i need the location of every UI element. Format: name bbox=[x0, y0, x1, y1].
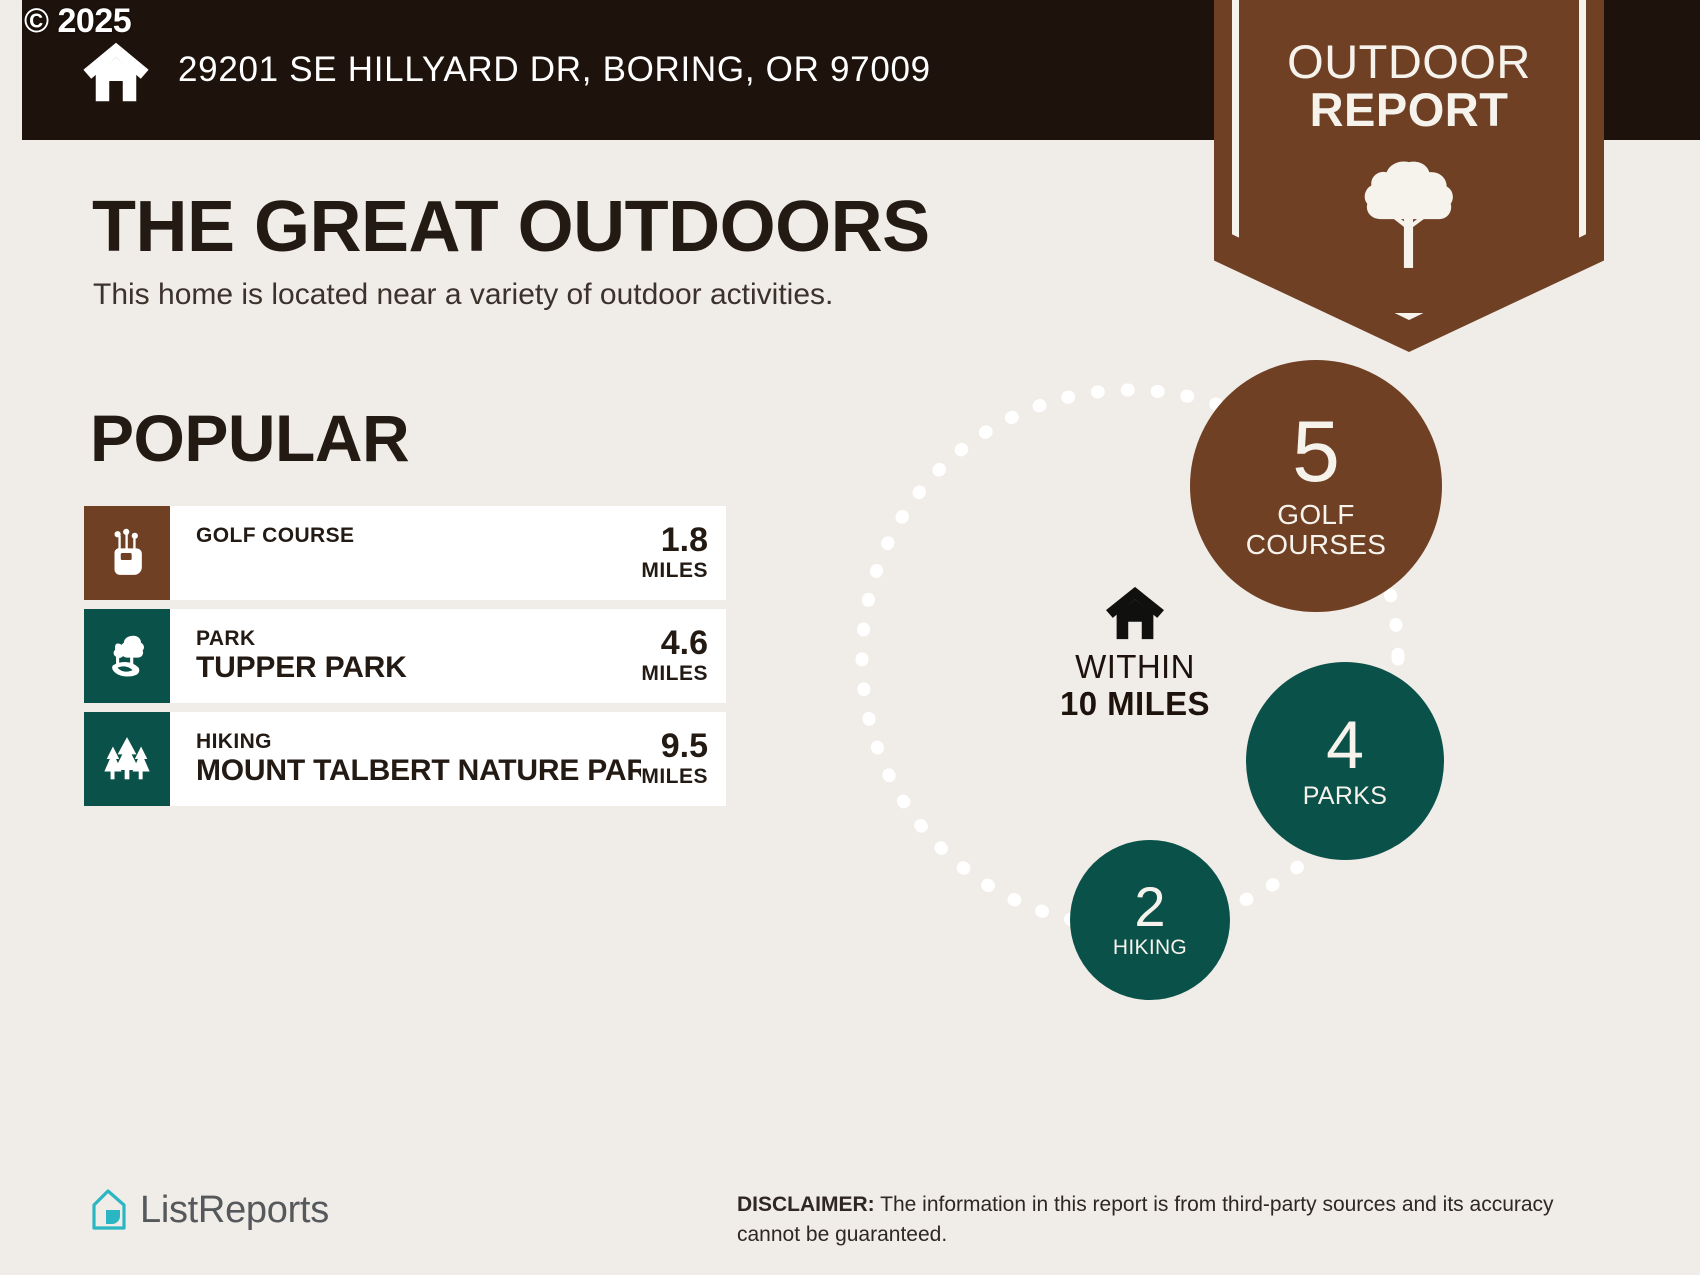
home-icon bbox=[1104, 585, 1166, 643]
outdoor-report-page: 29201 SE HILLYARD DR, BORING, OR 97009 ©… bbox=[0, 0, 1700, 1275]
poi-category: PARK bbox=[196, 627, 641, 651]
pine-trees-icon-box bbox=[84, 712, 170, 806]
golf-bag-icon-box bbox=[84, 506, 170, 600]
park-trees-icon bbox=[102, 631, 152, 681]
poi-text: GOLF COURSE bbox=[170, 506, 641, 600]
poi-text: HIKING MOUNT TALBERT NATURE PARK bbox=[170, 712, 641, 806]
poi-category: HIKING bbox=[196, 730, 641, 754]
disclaimer: DISCLAIMER: The information in this repo… bbox=[737, 1190, 1567, 1250]
stat-circle-parks[interactable]: 4 PARKS bbox=[1246, 662, 1444, 860]
stat-value: 2 bbox=[1134, 880, 1165, 933]
listreports-logo[interactable]: ListReports bbox=[88, 1188, 329, 1232]
tree-icon bbox=[1356, 158, 1462, 270]
page-title: THE GREAT OUTDOORS bbox=[92, 186, 930, 268]
poi-distance-unit: MILES bbox=[641, 765, 708, 789]
stat-value: 4 bbox=[1326, 713, 1364, 778]
list-item[interactable]: GOLF COURSE 1.8 MILES bbox=[84, 506, 726, 600]
poi-distance: 4.6 MILES bbox=[641, 609, 726, 703]
stat-label-line2: COURSES bbox=[1246, 530, 1387, 560]
poi-distance-value: 4.6 bbox=[661, 626, 708, 662]
poi-distance-unit: MILES bbox=[641, 662, 708, 686]
poi-category: GOLF COURSE bbox=[196, 524, 641, 548]
stat-label: HIKING bbox=[1113, 937, 1187, 959]
stat-circle-hiking[interactable]: 2 HIKING bbox=[1070, 840, 1230, 1000]
poi-distance-value: 1.8 bbox=[661, 523, 708, 559]
poi-name: TUPPER PARK bbox=[196, 651, 641, 686]
stat-label: PARKS bbox=[1303, 783, 1387, 810]
within-label-line2: 10 MILES bbox=[1030, 686, 1240, 723]
poi-text: PARK TUPPER PARK bbox=[170, 609, 641, 703]
stat-label: GOLF COURSES bbox=[1246, 500, 1387, 559]
stat-circle-golf-courses[interactable]: 5 GOLF COURSES bbox=[1190, 360, 1442, 612]
within-label-line1: WITHIN bbox=[1030, 649, 1240, 686]
pine-trees-icon bbox=[102, 734, 152, 784]
home-icon bbox=[80, 36, 152, 108]
poi-distance: 1.8 MILES bbox=[641, 506, 726, 600]
property-address: 29201 SE HILLYARD DR, BORING, OR 97009 bbox=[178, 50, 931, 90]
stat-label-line1: GOLF bbox=[1246, 500, 1387, 530]
popular-list: GOLF COURSE 1.8 MILES PARK bbox=[84, 506, 726, 815]
disclaimer-label: DISCLAIMER: bbox=[737, 1193, 875, 1216]
poi-distance-value: 9.5 bbox=[661, 729, 708, 765]
diagram-center-label: WITHIN 10 MILES bbox=[1030, 585, 1240, 723]
poi-distance: 9.5 MILES bbox=[641, 712, 726, 806]
listreports-logo-text: ListReports bbox=[140, 1189, 329, 1232]
within-10-miles-diagram: WITHIN 10 MILES 5 GOLF COURSES 4 PARKS 2… bbox=[830, 350, 1530, 1040]
list-item[interactable]: HIKING MOUNT TALBERT NATURE PARK 9.5 MIL… bbox=[84, 712, 726, 806]
poi-name: MOUNT TALBERT NATURE PARK bbox=[196, 754, 641, 789]
poi-name bbox=[196, 548, 641, 583]
stat-value: 5 bbox=[1292, 412, 1340, 494]
listreports-house-icon bbox=[88, 1188, 128, 1232]
list-item[interactable]: PARK TUPPER PARK 4.6 MILES bbox=[84, 609, 726, 703]
page-subtitle: This home is located near a variety of o… bbox=[93, 278, 833, 312]
section-title-popular: POPULAR bbox=[90, 400, 409, 476]
poi-distance-unit: MILES bbox=[641, 559, 708, 583]
copyright-watermark: © 2025 bbox=[24, 2, 131, 41]
park-trees-icon-box bbox=[84, 609, 170, 703]
golf-bag-icon bbox=[102, 528, 152, 578]
